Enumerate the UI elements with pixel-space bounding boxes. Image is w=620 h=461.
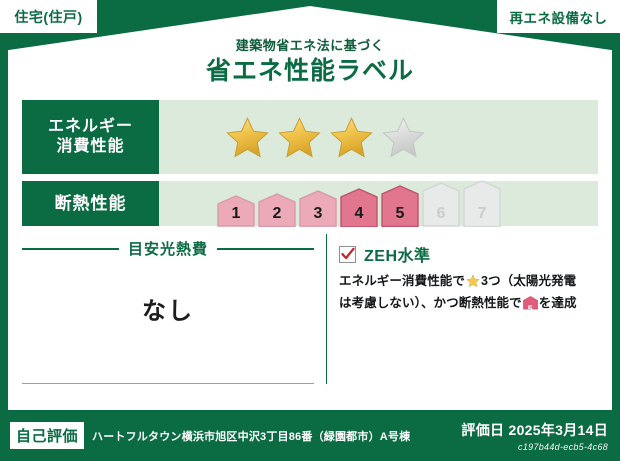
zeh-desc-part2: は考慮しない）、かつ断熱性能で (339, 296, 522, 310)
zeh-description: エネルギー消費性能で3つ（太陽光発電 は考慮しない）、かつ断熱性能で5を達成 (339, 272, 598, 317)
utility-cost-heading: 目安光熱費 (22, 238, 314, 259)
label-header: 建築物省エネ法に基づく 省エネ性能ラベル (0, 38, 620, 87)
insulation-performance-row: 断熱性能 1234567 (22, 181, 598, 226)
insulation-badge-number: 3 (299, 205, 337, 223)
insulation-badge-3: 3 (299, 190, 337, 227)
energy-performance-value-cell (159, 100, 598, 174)
zeh-checkbox[interactable] (339, 246, 356, 263)
insulation-badge-7: 7 (463, 180, 501, 228)
zeh-desc-part1: エネルギー消費性能で (339, 274, 465, 288)
insulation-badge-number: 2 (258, 205, 296, 223)
insulation-badge-number: 6 (422, 205, 460, 223)
section-divider (326, 234, 327, 384)
inline-star-icon (466, 274, 480, 294)
insulation-badge-6: 6 (422, 182, 460, 227)
utility-cost-value: なし (22, 291, 314, 326)
page-title: 省エネ性能ラベル (0, 56, 620, 87)
energy-performance-label: 住宅(住戸) 再エネ設備なし 建築物省エネ法に基づく 省エネ性能ラベル エネルギ… (0, 0, 620, 461)
energy-label-line1: エネルギー (48, 117, 133, 137)
insulation-badge-1: 1 (217, 195, 255, 227)
insulation-badge-4: 4 (340, 188, 378, 228)
zeh-desc-part3: を達成 (539, 296, 577, 310)
insulation-grade-scale: 1234567 (217, 180, 501, 228)
zeh-desc-star-count: 3つ（太陽光発電 (481, 274, 576, 288)
lower-section: 目安光熱費 なし ZEH水準 エネルギー消費性能で3つ（太陽 (22, 234, 598, 402)
star-rating (225, 116, 426, 159)
self-evaluation-badge: 自己評価 (10, 422, 84, 449)
energy-label-line2: 消費性能 (56, 137, 124, 157)
tag-building-type: 住宅(住戸) (0, 0, 97, 33)
insulation-badge-2: 2 (258, 193, 296, 228)
insulation-badge-number: 4 (340, 205, 378, 223)
insulation-performance-label-cell: 断熱性能 (22, 181, 159, 226)
inline-insulation-badge-icon: 5 (523, 296, 538, 316)
energy-performance-label-cell: エネルギー 消費性能 (22, 100, 159, 174)
label-footer: 自己評価 ハートフルタウン横浜市旭区中沢3丁目86番（緑園都市）A号棟 評価日 … (0, 410, 620, 461)
insulation-performance-value-cell: 1234567 (159, 181, 598, 226)
insulation-badge-number: 1 (217, 205, 255, 223)
zeh-block: ZEH水準 エネルギー消費性能で3つ（太陽光発電 は考慮しない）、かつ断熱性能で… (339, 234, 598, 402)
footer-right-block: 評価日 2025年3月14日 c197b44d-ecb5-4c68 (461, 420, 608, 452)
star-empty-icon (381, 116, 426, 159)
energy-performance-row: エネルギー 消費性能 (22, 100, 598, 174)
label-card: エネルギー 消費性能 断熱性能 1234567 目安光熱費 なし (22, 100, 598, 405)
header-subtitle: 建築物省エネ法に基づく (0, 38, 620, 54)
star-filled-icon (225, 116, 270, 159)
heading-rule-left (22, 248, 119, 250)
star-filled-icon (277, 116, 322, 159)
property-address: ハートフルタウン横浜市旭区中沢3丁目86番（緑園都市）A号棟 (92, 428, 410, 444)
zeh-title: ZEH水準 (364, 242, 431, 266)
evaluation-date: 評価日 2025年3月14日 (461, 420, 608, 440)
utility-cost-heading-text: 目安光熱費 (128, 238, 208, 259)
label-identifier: c197b44d-ecb5-4c68 (461, 442, 608, 452)
insulation-badge-number: 7 (463, 205, 501, 223)
heading-rule-right (217, 248, 314, 250)
utility-cost-bottom-rule (22, 383, 314, 384)
utility-cost-block: 目安光熱費 なし (22, 234, 314, 402)
insulation-badge-number: 5 (381, 205, 419, 223)
insulation-badge-5: 5 (381, 185, 419, 227)
zeh-heading: ZEH水準 (339, 242, 598, 266)
tag-renewable-equipment: 再エネ設備なし (497, 0, 620, 33)
inline-badge-number: 5 (523, 303, 538, 317)
star-filled-icon (329, 116, 374, 159)
check-icon (341, 247, 355, 261)
